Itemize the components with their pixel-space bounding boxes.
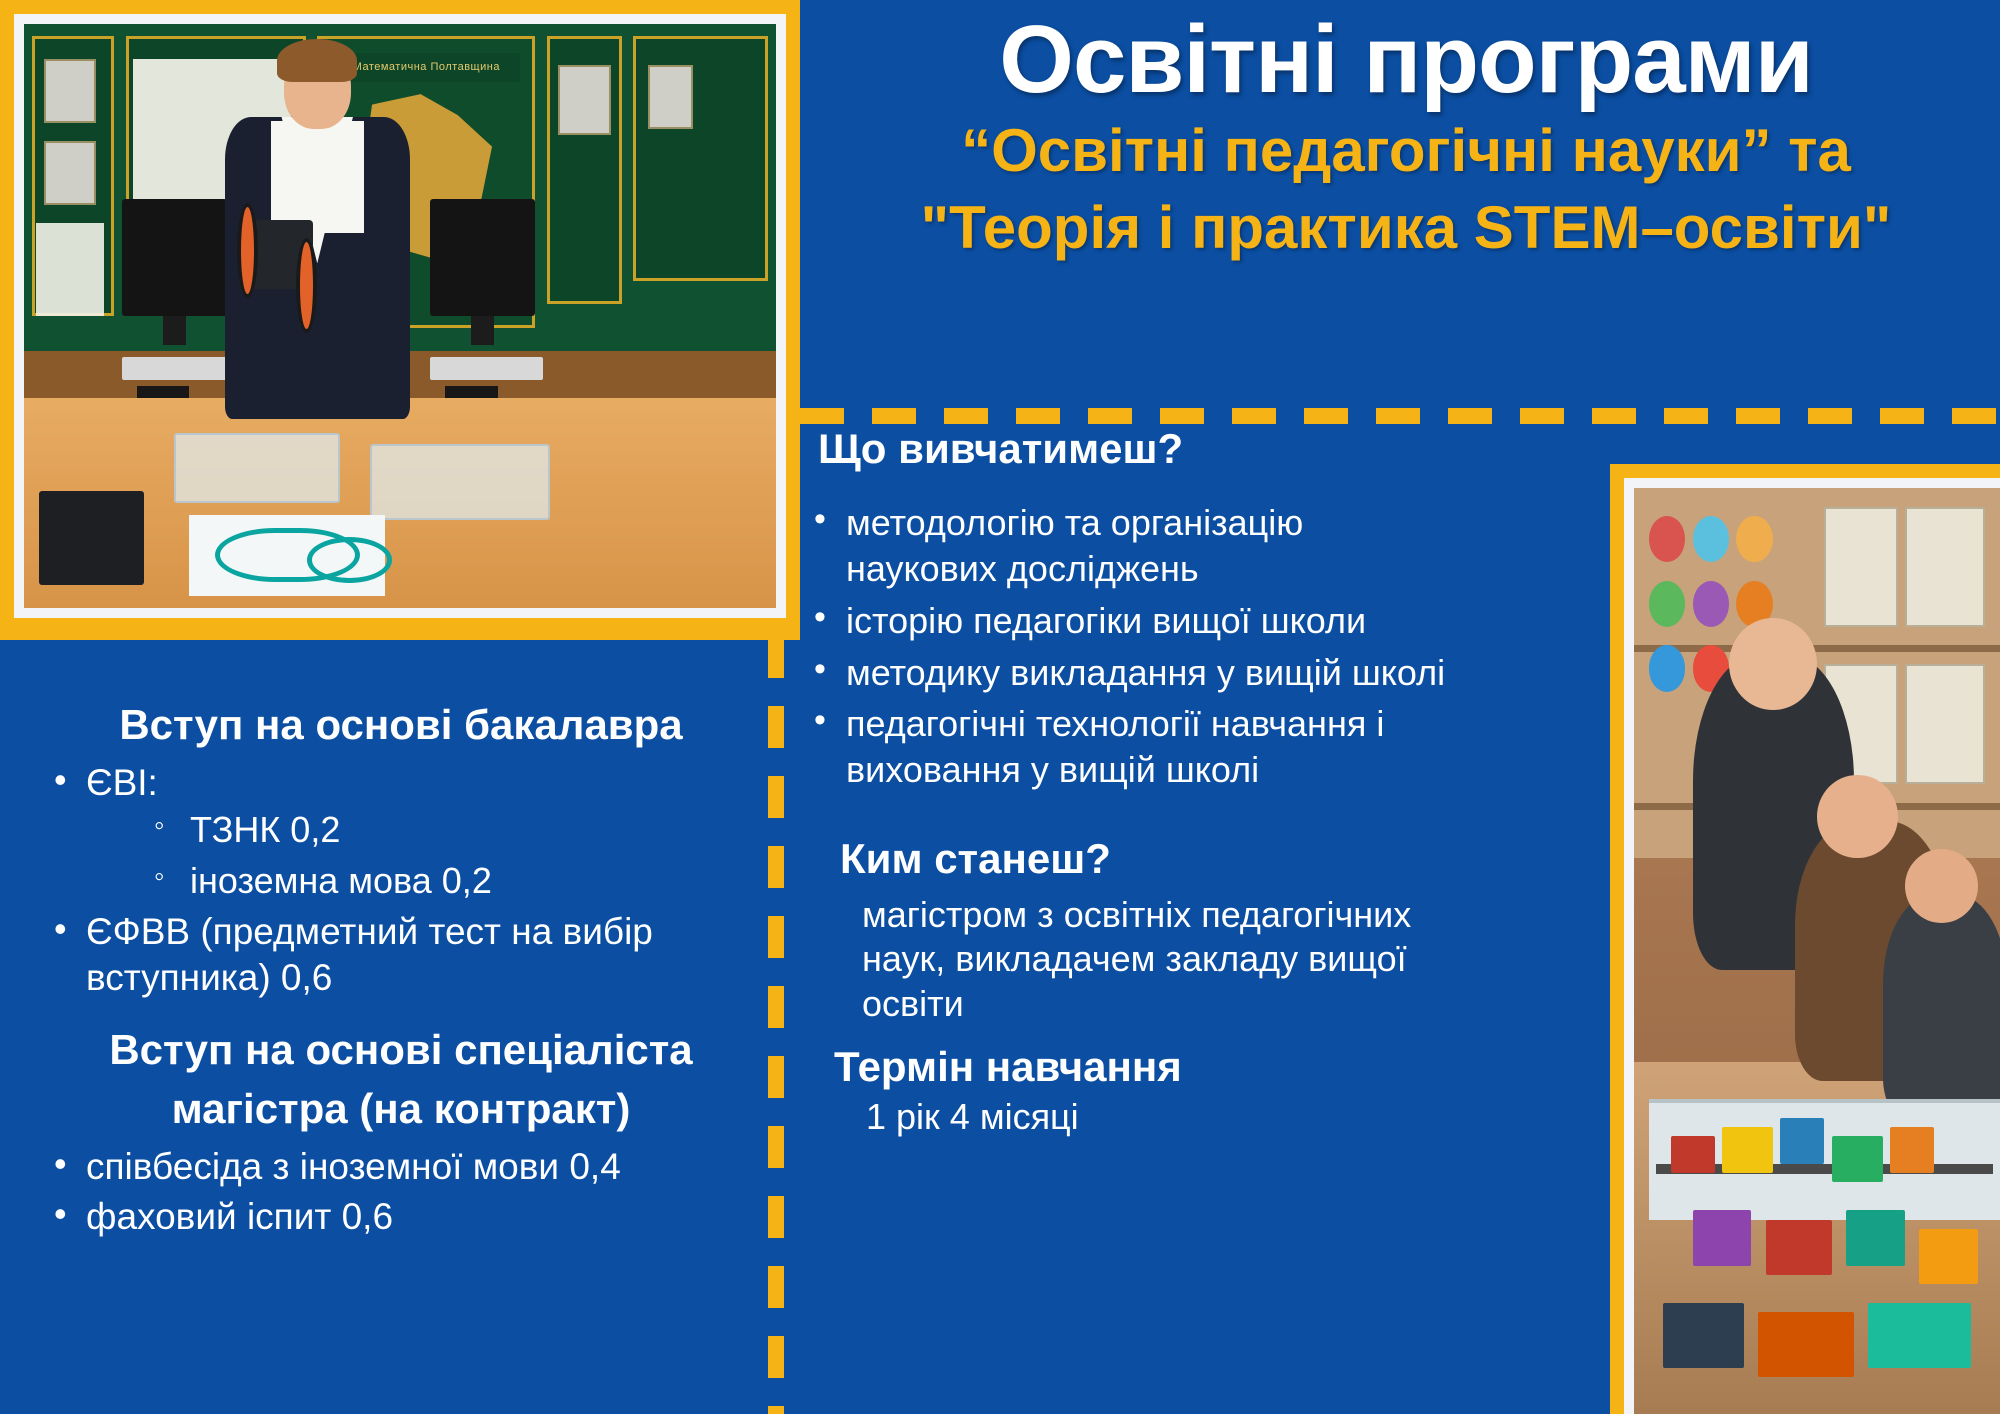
- list-item-label: ЄВІ:: [86, 762, 158, 803]
- list-item: методику викладання у вищій школі: [800, 650, 1450, 696]
- list-item: ТЗНК 0,2: [86, 807, 762, 854]
- evi-subitems-list: ТЗНК 0,2 іноземна мова 0,2: [86, 807, 762, 905]
- presenter-figure: [212, 47, 423, 479]
- title-subtitle-line-2: "Теорія і практика STEM–освіти": [836, 193, 1976, 264]
- poster-root: Математична Полтавщина: [0, 0, 2000, 1414]
- bachelor-admission-heading: Вступ на основі бакалавра: [40, 700, 762, 750]
- list-item: ЄВІ: ТЗНК 0,2 іноземна мова 0,2: [40, 760, 762, 905]
- photo-left-frame: Математична Полтавщина: [0, 0, 800, 640]
- photo-right-mat: [1624, 478, 2000, 1414]
- arduino-sign: [189, 515, 385, 597]
- horizontal-dashed-divider: [800, 408, 2000, 424]
- arduino-logo-icon: [215, 528, 360, 582]
- who-will-you-become-body: магістром з освітніх педагогічних наук, …: [862, 893, 1450, 1027]
- list-item: ЄФВВ (предметний тест на вибір вступника…: [40, 909, 762, 1001]
- specialist-admission-heading-line-2: магістра (на контракт): [40, 1084, 762, 1134]
- list-item: іноземна мова 0,2: [86, 858, 762, 905]
- title-subtitle-line-1: “Освітні педагогічні науки” та: [836, 116, 1976, 187]
- list-item: співбесіда з іноземної мови 0,4: [40, 1144, 762, 1190]
- duration-value: 1 рік 4 місяці: [866, 1095, 1450, 1140]
- classroom-robotics-photo: Математична Полтавщина: [24, 24, 776, 608]
- study-topics-list: методологію та організацію наукових досл…: [800, 500, 1450, 792]
- who-will-you-become-heading: Ким станеш?: [840, 835, 1450, 883]
- list-item: методологію та організацію наукових досл…: [800, 500, 1450, 591]
- specialist-admission-heading-line-1: Вступ на основі спеціаліста: [40, 1025, 762, 1075]
- page-title: Освітні програми: [836, 10, 1976, 110]
- photo-left-mat: Математична Полтавщина: [14, 14, 786, 618]
- duration-heading: Термін навчання: [834, 1043, 1450, 1091]
- specialist-admission-list: співбесіда з іноземної мови 0,4 фаховий …: [40, 1144, 762, 1240]
- list-item: історію педагогіки вищої школи: [800, 598, 1450, 644]
- title-block: Освітні програми “Освітні педагогічні на…: [812, 0, 2000, 400]
- list-item: педагогічні технології навчання і вихова…: [800, 701, 1450, 792]
- bachelor-admission-list: ЄВІ: ТЗНК 0,2 іноземна мова 0,2 ЄФВВ (пр…: [40, 760, 762, 1001]
- children-lego-construction-photo: [1634, 488, 2000, 1414]
- list-item: фаховий іспит 0,6: [40, 1194, 762, 1240]
- center-content-column: Що вивчатимеш? методологію та організаці…: [800, 424, 1450, 1139]
- photo-right-frame: [1610, 464, 2000, 1414]
- left-content-column: Вступ на основі бакалавра ЄВІ: ТЗНК 0,2 …: [0, 700, 780, 1246]
- what-will-you-study-heading: Що вивчатимеш?: [818, 424, 1450, 474]
